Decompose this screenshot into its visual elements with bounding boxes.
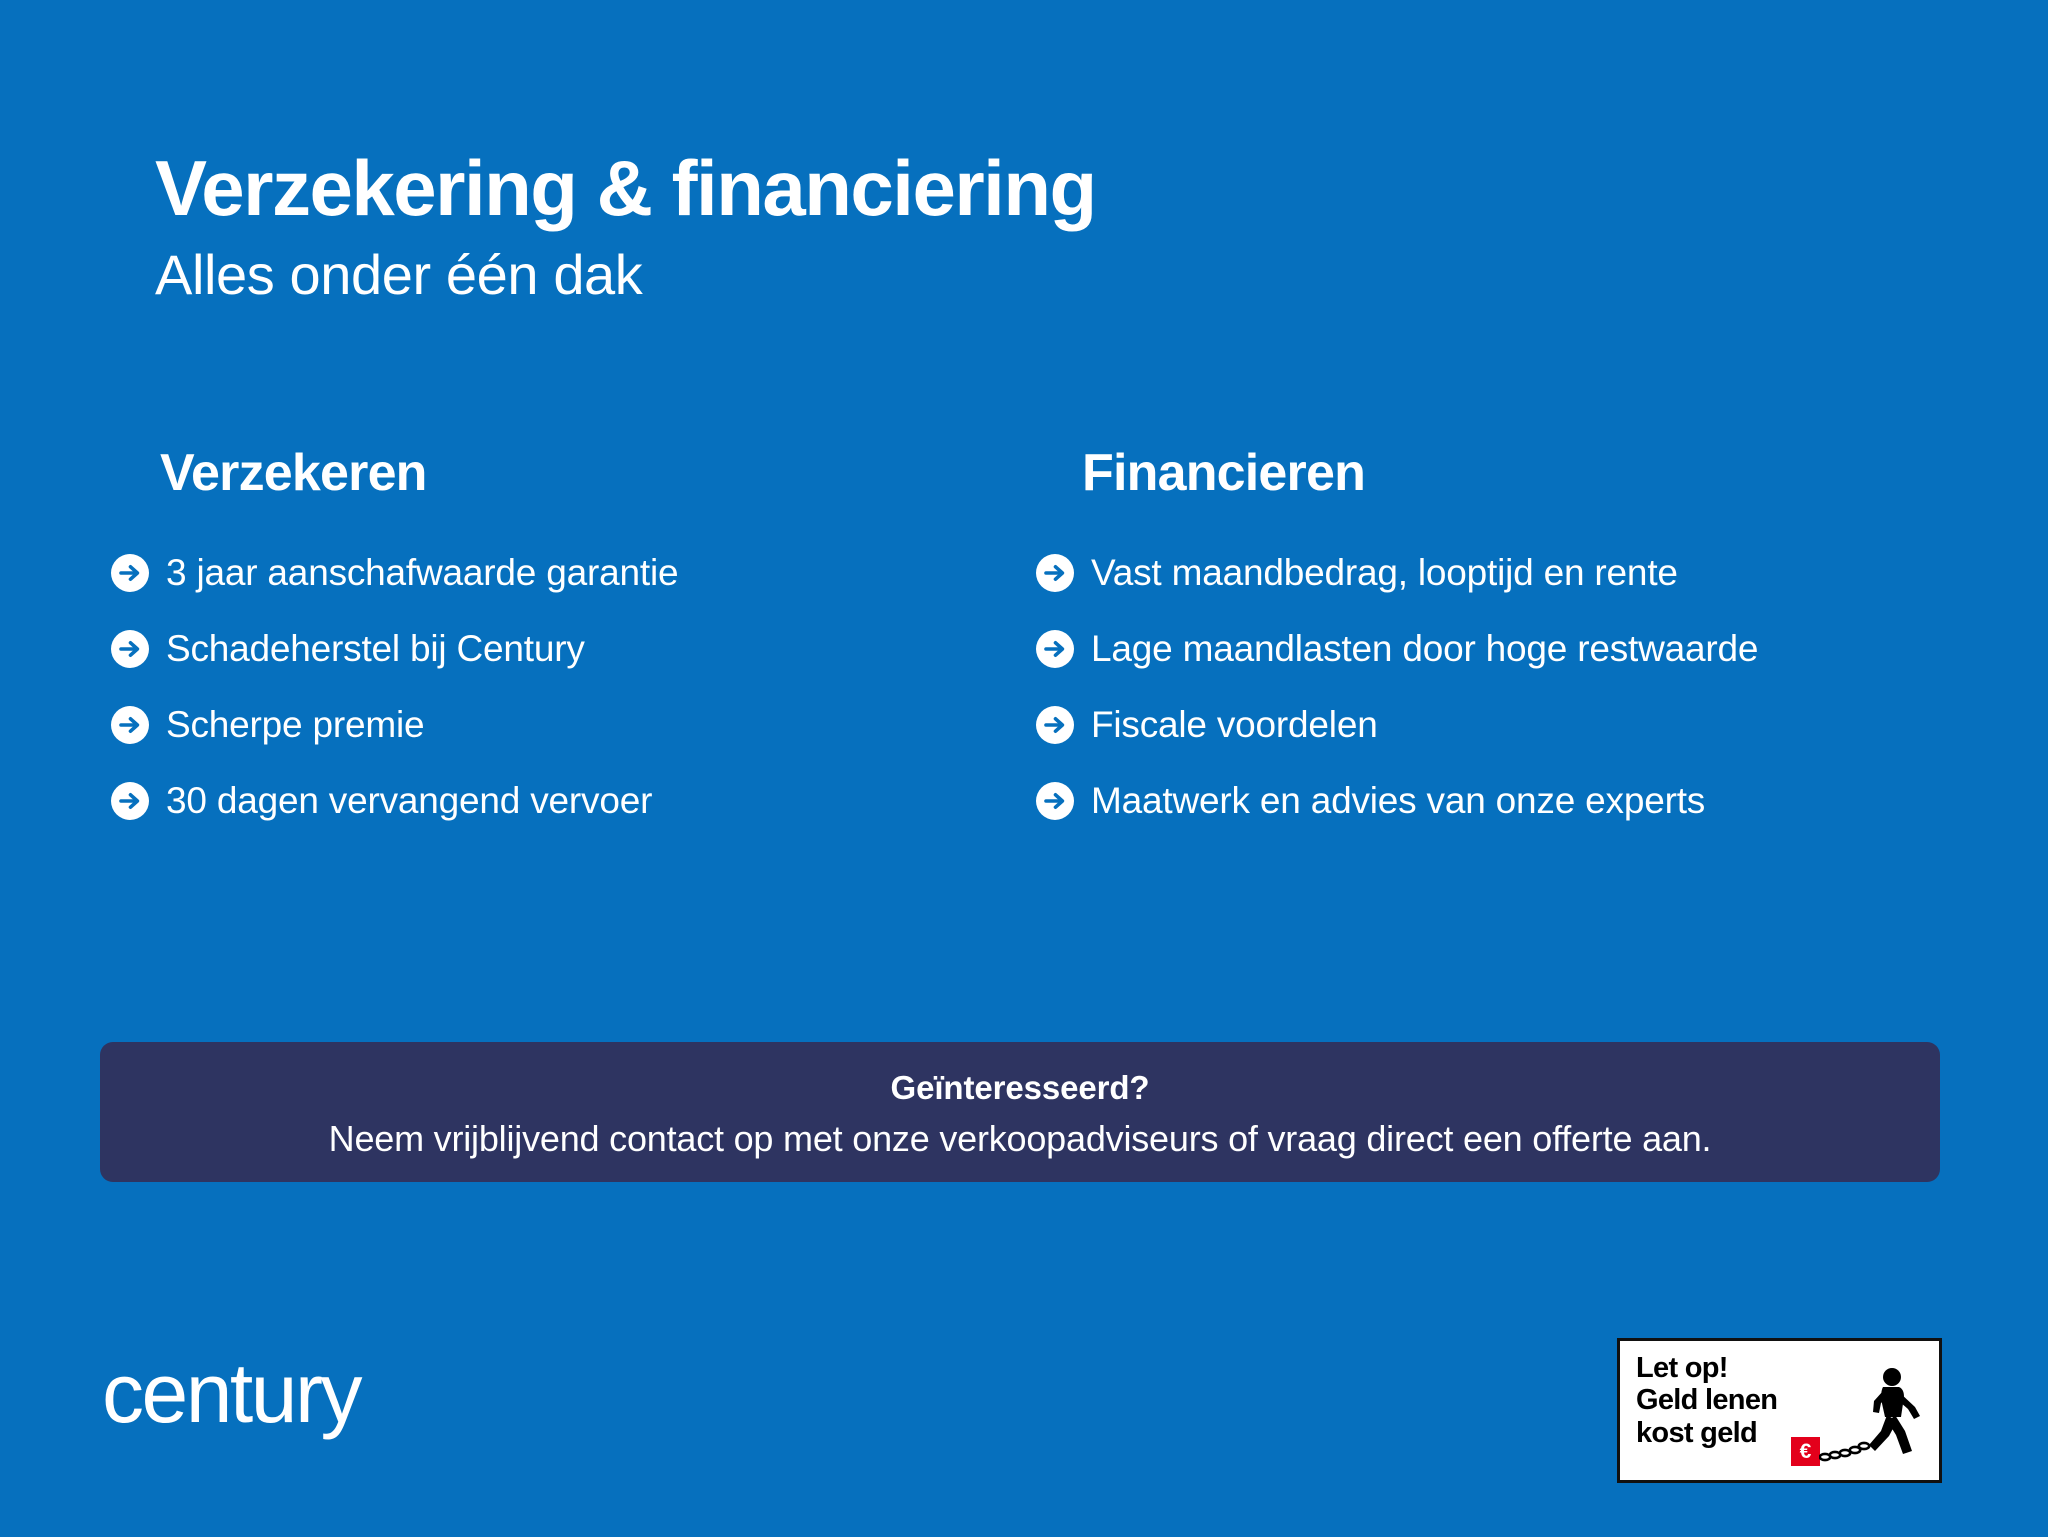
list-item: 3 jaar aanschafwaarde garantie	[110, 535, 1015, 611]
arrow-circle-right-icon	[110, 781, 150, 821]
list-item-label: Scherpe premie	[166, 703, 424, 747]
list-item-label: Maatwerk en advies van onze experts	[1091, 779, 1705, 823]
bullet-list-verzekeren: 3 jaar aanschafwaarde garantie Schadeher…	[110, 535, 1015, 839]
column-financieren: Financieren Vast maandbedrag, looptijd e…	[1035, 445, 1970, 839]
bullet-list-financieren: Vast maandbedrag, looptijd en rente Lage…	[1035, 535, 1970, 839]
list-item: Schadeherstel bij Century	[110, 611, 1015, 687]
list-item: 30 dagen vervangend vervoer	[110, 763, 1015, 839]
credit-warning-box: Let op! Geld lenen kost geld €	[1617, 1338, 1942, 1483]
list-item-label: Vast maandbedrag, looptijd en rente	[1091, 551, 1678, 595]
list-item-label: Lage maandlasten door hoge restwaarde	[1091, 627, 1758, 671]
arrow-circle-right-icon	[1035, 781, 1075, 821]
feature-columns: Verzekeren 3 jaar aanschafwaarde garanti…	[110, 445, 1970, 839]
list-item: Fiscale voordelen	[1035, 687, 1970, 763]
page-title: Verzekering & financiering	[155, 148, 1855, 229]
cta-title: Geïnteresseerd?	[891, 1069, 1150, 1107]
cta-body-text: Neem vrijblijvend contact op met onze ve…	[329, 1118, 1712, 1160]
arrow-circle-right-icon	[110, 629, 150, 669]
column-verzekeren: Verzekeren 3 jaar aanschafwaarde garanti…	[110, 445, 1015, 839]
credit-warning-inner: Let op! Geld lenen kost geld €	[1620, 1341, 1939, 1480]
list-item-label: 3 jaar aanschafwaarde garantie	[166, 551, 678, 595]
list-item-label: 30 dagen vervangend vervoer	[166, 779, 652, 823]
arrow-circle-right-icon	[110, 705, 150, 745]
list-item: Vast maandbedrag, looptijd en rente	[1035, 535, 1970, 611]
list-item: Maatwerk en advies van onze experts	[1035, 763, 1970, 839]
arrow-circle-right-icon	[1035, 629, 1075, 669]
list-item-label: Schadeherstel bij Century	[166, 627, 585, 671]
arrow-circle-right-icon	[110, 553, 150, 593]
column-heading-verzekeren: Verzekeren	[160, 445, 1015, 502]
cta-banner: Geïnteresseerd? Neem vrijblijvend contac…	[100, 1042, 1940, 1182]
arrow-circle-right-icon	[1035, 553, 1075, 593]
list-item: Lage maandlasten door hoge restwaarde	[1035, 611, 1970, 687]
century-logo-wordmark: century	[102, 1351, 360, 1435]
list-item-label: Fiscale voordelen	[1091, 703, 1378, 747]
slide-header: Verzekering & financiering Alles onder é…	[155, 148, 1855, 308]
euro-symbol-chip: €	[1791, 1437, 1820, 1466]
column-heading-financieren: Financieren	[1082, 445, 1970, 502]
page-subtitle: Alles onder één dak	[155, 243, 1855, 307]
walking-person-dragging-chain-icon	[1819, 1365, 1927, 1471]
list-item: Scherpe premie	[110, 687, 1015, 763]
slide-canvas: Verzekering & financiering Alles onder é…	[0, 0, 2048, 1537]
arrow-circle-right-icon	[1035, 705, 1075, 745]
